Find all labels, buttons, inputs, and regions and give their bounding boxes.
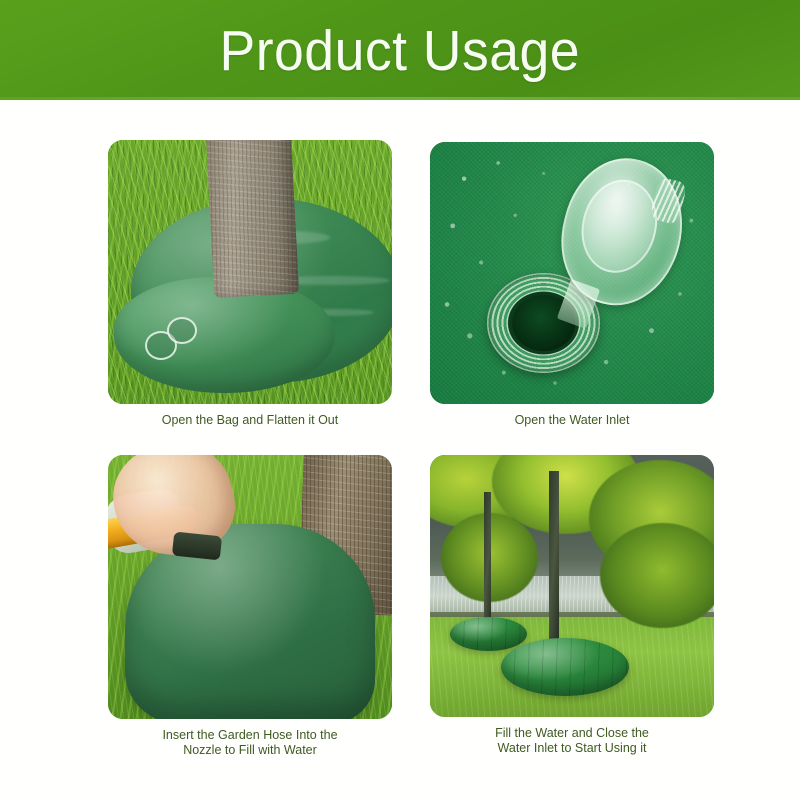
cap-inner-ring xyxy=(573,172,668,281)
bag-seams xyxy=(501,638,629,696)
product-usage-page: Product Usage Open the Bag and Flatten i… xyxy=(0,0,800,800)
tree-trunk xyxy=(206,140,300,298)
tree-trunk xyxy=(549,471,559,654)
bag-flattened-around-tree-photo xyxy=(108,140,392,404)
filled-bags-in-park-photo xyxy=(430,455,714,717)
usage-step-2: Open the Water Inlet xyxy=(416,142,728,428)
step-4-caption: Fill the Water and Close the Water Inlet… xyxy=(422,726,722,756)
step-3-caption: Insert the Garden Hose Into the Nozzle t… xyxy=(100,728,400,758)
garden-hose-filling-photo xyxy=(108,455,392,719)
bag-nozzle xyxy=(172,532,222,561)
usage-steps-grid: Open the Bag and Flatten it Out Open the… xyxy=(0,100,800,800)
header-banner: Product Usage xyxy=(0,0,800,100)
step-2-caption: Open the Water Inlet xyxy=(422,413,722,428)
water-inlet-open-photo xyxy=(430,142,714,404)
usage-step-3: Insert the Garden Hose Into the Nozzle t… xyxy=(94,455,406,758)
tree-canopy xyxy=(600,523,714,628)
grommet-icon xyxy=(167,317,198,344)
usage-step-1: Open the Bag and Flatten it Out xyxy=(94,140,406,428)
page-title: Product Usage xyxy=(220,23,581,80)
usage-step-4: Fill the Water and Close the Water Inlet… xyxy=(416,455,728,756)
step-1-caption: Open the Bag and Flatten it Out xyxy=(100,413,400,428)
filled-watering-bag xyxy=(501,638,629,696)
